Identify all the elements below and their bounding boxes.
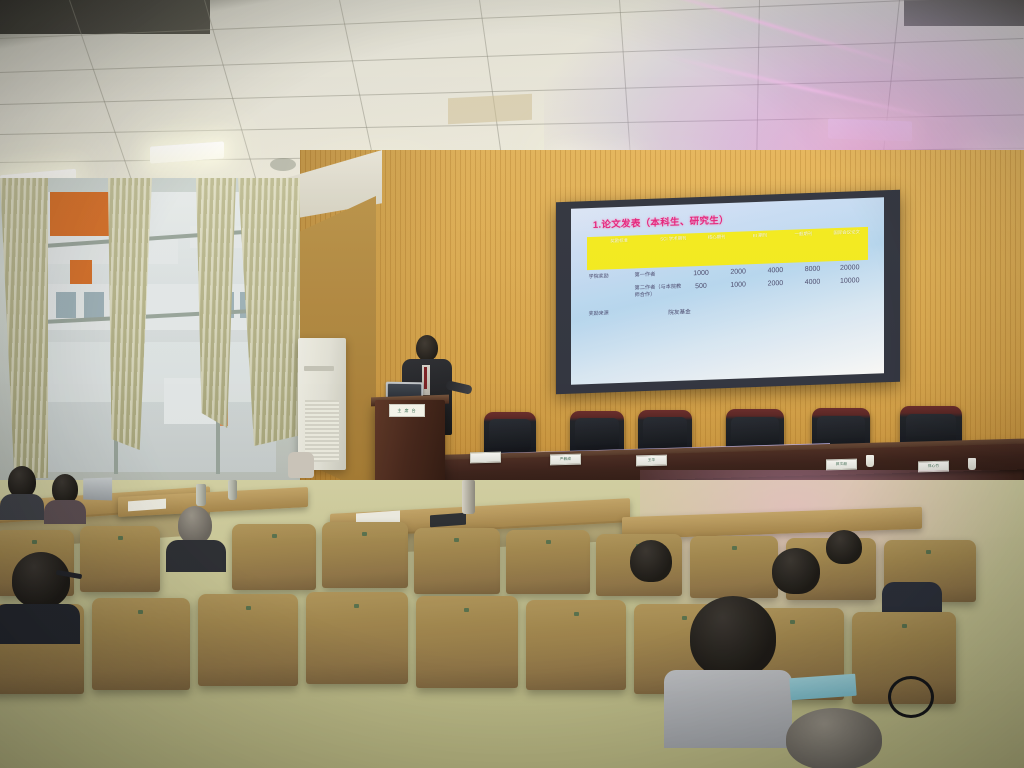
slide-source-value: 院友基金	[635, 306, 725, 317]
nameplate-text: 王华	[648, 458, 656, 463]
slide-cell: 1000	[720, 281, 757, 289]
auditorium-seat[interactable]	[690, 536, 778, 598]
audience-head	[786, 708, 882, 768]
nameplate-text: 郑心竹	[928, 464, 939, 469]
slide-cell: 1000	[682, 269, 719, 277]
auditorium-seat[interactable]	[322, 522, 408, 588]
stage-chair	[484, 412, 536, 456]
nameplate: 郭文超	[826, 459, 857, 471]
window-wall	[0, 178, 300, 488]
ceiling-tile-stain	[448, 94, 532, 124]
slide-cell: 20000	[831, 264, 868, 272]
audience-shoulders	[44, 500, 86, 524]
slide-row-group-label: 学院奖励	[587, 272, 635, 280]
slide-cell: 4000	[757, 267, 794, 275]
slide-table: 奖励标准 SCI 学术期刊 核心期刊 EI 期刊 一般期刊 国际会议论文 学院奖…	[587, 227, 869, 320]
audience-laptop	[83, 477, 112, 500]
bag-strap	[888, 676, 934, 718]
audience-head	[178, 506, 212, 544]
audience-shoulders	[882, 582, 942, 614]
slide-source-label: 奖励来源	[587, 310, 635, 318]
audience-shoulders	[664, 670, 792, 748]
slide-row-label: 第一作者	[635, 271, 683, 280]
auditorium-seat[interactable]	[414, 528, 500, 594]
audience-shoulders	[166, 540, 226, 572]
slide-row-label: 第二作者（与本院教师合作）	[635, 284, 683, 300]
water-cup	[968, 458, 976, 470]
floor-bag	[288, 452, 314, 478]
slide-cell: 2000	[757, 280, 794, 288]
audience-head	[826, 530, 862, 564]
nameplate: 严毅成	[550, 454, 581, 466]
air-conditioner[interactable]	[298, 338, 346, 470]
auditorium-seat[interactable]	[306, 592, 408, 684]
auditorium-seat[interactable]	[416, 596, 518, 688]
slide-col-4: 一般期刊	[782, 230, 825, 237]
slide-col-3: EI 期刊	[738, 232, 781, 239]
auditorium-seat[interactable]	[526, 600, 626, 690]
slide-title: 1.论文发表（本科生、研究生）	[593, 212, 729, 231]
slide-col-0: 奖励标准	[587, 237, 652, 245]
ac-control-panel[interactable]	[304, 366, 334, 371]
audience-head	[630, 540, 672, 582]
ceiling-light-panel	[828, 119, 912, 142]
projected-slide: 1.论文发表（本科生、研究生） 奖励标准 SCI 学术期刊 核心期刊 EI 期刊…	[571, 197, 884, 384]
slide-cell: 10000	[831, 277, 868, 285]
auditorium-seat[interactable]	[198, 594, 298, 686]
auditorium-seat[interactable]	[506, 530, 590, 594]
tablet-device[interactable]	[430, 513, 466, 528]
projection-screen: 1.论文发表（本科生、研究生） 奖励标准 SCI 学术期刊 核心期刊 EI 期刊…	[556, 190, 900, 395]
water-cup	[866, 455, 874, 467]
audience-head	[12, 552, 70, 608]
slide-table-body: 学院奖励 第一作者 1000 2000 4000 8000 20000 第二作者…	[587, 263, 869, 320]
nameplate	[470, 452, 501, 464]
slide-col-2: 核心期刊	[695, 234, 738, 241]
auditorium-seat[interactable]	[92, 598, 190, 690]
auditorium-seat[interactable]	[80, 526, 160, 592]
slide-cell: 500	[682, 282, 719, 290]
audience-shoulders	[0, 604, 80, 644]
lecture-hall-photo: 1.论文发表（本科生、研究生） 奖励标准 SCI 学术期刊 核心期刊 EI 期刊…	[0, 0, 1024, 768]
ceiling-vent-icon	[270, 158, 296, 171]
slide-cell: 8000	[794, 265, 831, 273]
slide-col-5: 国际会议论文	[825, 229, 868, 236]
thermos	[196, 484, 206, 506]
podium-name-card: 主 席 台	[389, 404, 425, 417]
slide-cell: 4000	[794, 278, 831, 286]
audience-head	[690, 596, 776, 678]
audience-shoulders	[0, 494, 44, 520]
slide-col-1: SCI 学术期刊	[652, 235, 695, 242]
slide-cell: 2000	[720, 268, 757, 276]
nameplate-text: 郭文超	[836, 462, 847, 467]
presenter-tie	[424, 367, 427, 389]
thermos	[462, 480, 475, 514]
nameplate: 王华	[636, 455, 667, 467]
thermos	[228, 480, 237, 500]
audience-head	[772, 548, 820, 594]
presenter-head	[416, 335, 438, 361]
podium-card-text: 主 席 台	[397, 408, 416, 414]
slide-table-row: 奖励来源 院友基金	[587, 300, 869, 320]
teal-folder	[789, 674, 856, 701]
auditorium-seat[interactable]	[232, 524, 316, 590]
nameplate-text: 严毅成	[560, 457, 571, 462]
